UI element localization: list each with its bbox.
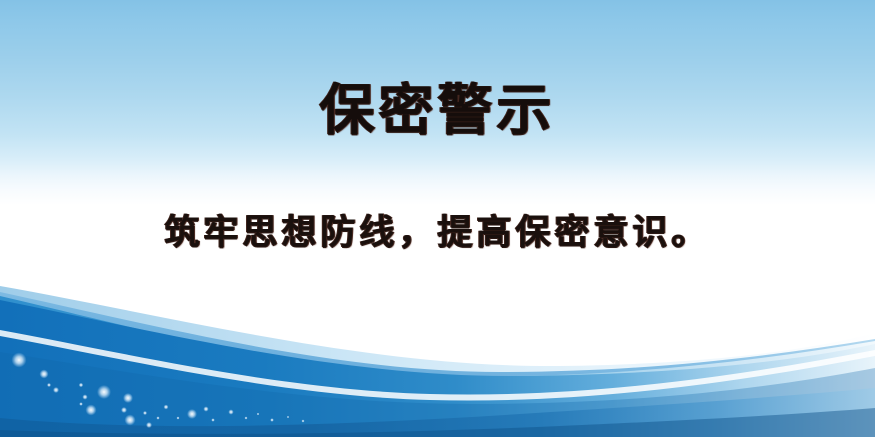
secrecy-warning-banner: 保密警示 筑牢思想防线，提高保密意识。 [0, 0, 875, 437]
page-title: 保密警示 [0, 79, 875, 141]
banner-subtitle: 筑牢思想防线，提高保密意识。 [0, 211, 875, 255]
banner-text-layer: 保密警示 筑牢思想防线，提高保密意识。 [0, 0, 875, 437]
